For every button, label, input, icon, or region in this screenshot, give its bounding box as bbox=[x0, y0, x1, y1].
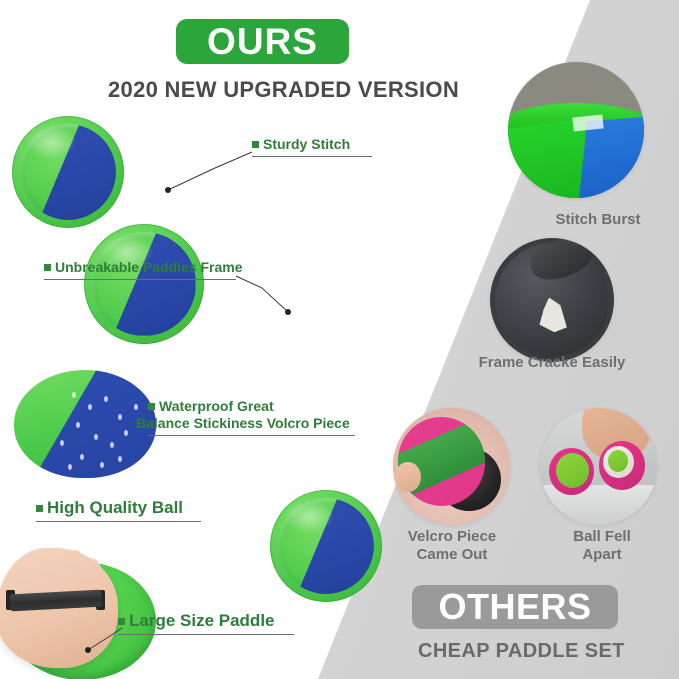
paddle-gloss bbox=[283, 499, 335, 533]
photo-ball-fell-apart bbox=[540, 408, 657, 525]
ball-half-right bbox=[599, 441, 646, 490]
caption-stitch-burst: Stitch Burst bbox=[528, 211, 668, 229]
counter-surface bbox=[540, 485, 657, 525]
feature-label: Unbreakable Paddles Frame bbox=[55, 259, 243, 276]
paddle-image-left bbox=[12, 116, 124, 228]
feature-label-line2: Balance Stickiness Volcro Piece bbox=[136, 415, 350, 432]
caption-velcro-piece-came-out: Velcro Piece Came Out bbox=[378, 528, 526, 563]
ours-badge-label: OURS bbox=[207, 23, 318, 60]
feature-large-size-paddle: Large Size Paddle bbox=[118, 611, 294, 635]
feature-unbreakable-paddles-frame: Unbreakable Paddles Frame bbox=[44, 259, 243, 280]
others-badge: OTHERS bbox=[412, 585, 618, 629]
photo-frame-cracke-easily bbox=[490, 238, 614, 362]
photo-velcro-piece-came-out bbox=[393, 408, 510, 525]
feature-label: High Quality Ball bbox=[47, 498, 183, 518]
bullet-square-icon bbox=[118, 618, 125, 625]
others-subtitle: CHEAP PADDLE SET bbox=[418, 640, 625, 663]
feature-label: Large Size Paddle bbox=[129, 611, 275, 631]
bullet-square-icon bbox=[252, 141, 259, 148]
bullet-square-icon bbox=[44, 264, 51, 271]
thumb bbox=[395, 462, 421, 492]
caption-ball-fell-apart: Ball Fell Apart bbox=[552, 528, 652, 563]
water-droplets bbox=[14, 370, 156, 478]
bullet-square-icon bbox=[148, 403, 155, 410]
ours-badge: OURS bbox=[176, 19, 349, 64]
feature-underline bbox=[252, 156, 372, 157]
feature-underline bbox=[148, 435, 355, 436]
ball-half-inner bbox=[556, 453, 589, 488]
feature-label-line1: Waterproof Great bbox=[159, 398, 274, 415]
feature-underline bbox=[44, 279, 236, 280]
waterproof-paddle-disc bbox=[14, 370, 156, 478]
feature-high-quality-ball: High Quality Ball bbox=[36, 498, 201, 522]
feature-underline bbox=[36, 521, 201, 522]
feature-underline bbox=[118, 634, 294, 635]
feature-sturdy-stitch: Sturdy Stitch bbox=[252, 136, 372, 157]
ball-half-left bbox=[549, 448, 593, 495]
photo-stitch-burst bbox=[508, 62, 644, 198]
infographic-canvas: OURS 2020 NEW UPGRADED VERSION bbox=[0, 0, 679, 679]
feature-waterproof-velcro: Waterproof Great Balance Stickiness Volc… bbox=[148, 398, 355, 436]
others-badge-label: OTHERS bbox=[438, 589, 591, 625]
bullet-square-icon bbox=[36, 505, 43, 512]
ours-subtitle: 2020 NEW UPGRADED VERSION bbox=[108, 77, 459, 103]
caption-frame-cracke-easily: Frame Cracke Easily bbox=[452, 354, 652, 372]
feature-label: Sturdy Stitch bbox=[263, 136, 350, 153]
paddle-image-right bbox=[84, 224, 204, 344]
paddle-gloss bbox=[25, 125, 77, 159]
paddle-image-frame bbox=[270, 490, 382, 602]
